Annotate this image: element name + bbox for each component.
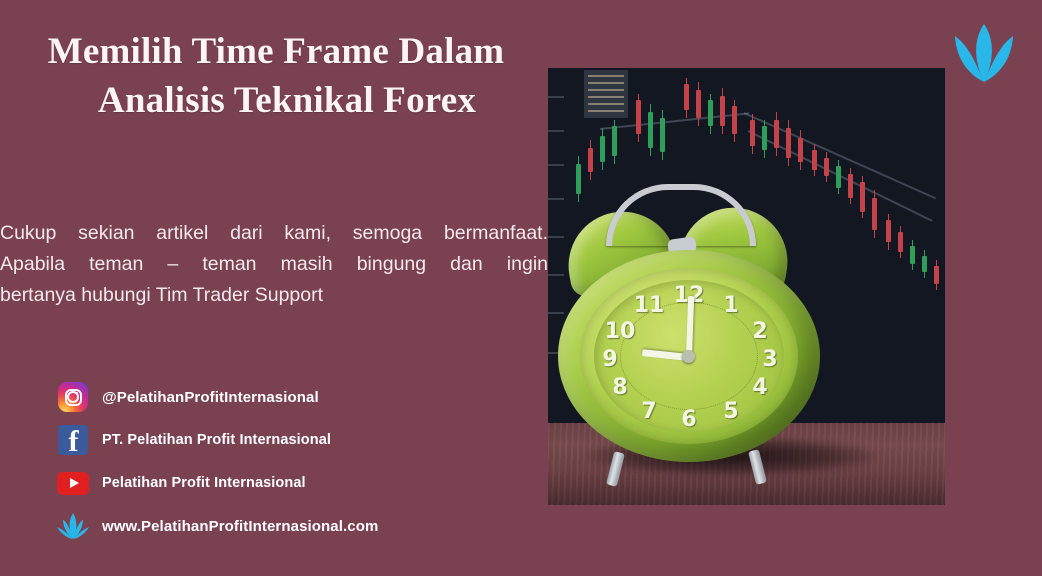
clock-numeral-7: 7 (641, 401, 656, 423)
lotus-icon-svg (56, 509, 90, 543)
chart-legend-box (584, 70, 628, 118)
clock-body: 12 1 2 3 4 5 6 7 8 9 10 11 (558, 250, 820, 462)
body-line-3: bertanya hubungi Tim Trader Support (0, 280, 548, 311)
social-contact-list: @PelatihanProfitInternasional f PT. Pela… (56, 376, 486, 548)
clock-numeral-4: 4 (752, 377, 767, 399)
green-alarm-clock: 12 1 2 3 4 5 6 7 8 9 10 11 (556, 176, 866, 466)
clock-numeral-2: 2 (752, 321, 767, 343)
clock-face: 12 1 2 3 4 5 6 7 8 9 10 11 (594, 280, 784, 432)
website-url-label: www.PelatihanProfitInternasional.com (102, 518, 378, 535)
clock-numeral-6: 6 (681, 409, 696, 431)
lotus-icon[interactable] (56, 509, 90, 543)
youtube-icon[interactable] (56, 466, 90, 500)
clock-numeral-1: 1 (723, 295, 738, 317)
page-title: Memilih Time Frame Dalam Analisis Teknik… (0, 28, 560, 126)
social-row-facebook[interactable]: f PT. Pelatihan Profit Internasional (56, 419, 486, 461)
lotus-logo-svg (944, 22, 1024, 84)
article-photo: 12 1 2 3 4 5 6 7 8 9 10 11 (548, 68, 945, 505)
clock-numeral-3: 3 (762, 349, 777, 371)
title-line-1: Memilih Time Frame Dalam (0, 28, 560, 77)
instagram-icon[interactable] (56, 380, 90, 414)
social-row-website[interactable]: www.PelatihanProfitInternasional.com (56, 505, 486, 547)
social-row-instagram[interactable]: @PelatihanProfitInternasional (56, 376, 486, 418)
clock-center-pin (682, 350, 695, 363)
clock-numeral-8: 8 (612, 377, 627, 399)
clock-numeral-11: 11 (634, 295, 665, 317)
facebook-page-label: PT. Pelatihan Profit Internasional (102, 432, 331, 448)
clock-rim: 12 1 2 3 4 5 6 7 8 9 10 11 (580, 268, 798, 444)
facebook-icon[interactable]: f (56, 423, 90, 457)
clock-numeral-10: 10 (605, 321, 636, 343)
body-paragraph: Cukup sekian artikel dari kami, semoga b… (0, 218, 548, 310)
social-row-youtube[interactable]: Pelatihan Profit Internasional (56, 462, 486, 504)
brand-lotus-logo (944, 22, 1024, 84)
clock-numeral-9: 9 (602, 349, 617, 371)
slide-canvas: Memilih Time Frame Dalam Analisis Teknik… (0, 0, 1042, 576)
instagram-handle-label: @PelatihanProfitInternasional (102, 389, 319, 406)
body-line-1: Cukup sekian artikel dari kami, semoga b… (0, 218, 548, 249)
clock-numeral-5: 5 (723, 401, 738, 423)
title-line-2: Analisis Teknikal Forex (14, 77, 560, 126)
clock-handle (606, 184, 756, 246)
body-line-2: Apabila teman – teman masih bingung dan … (0, 249, 548, 280)
youtube-channel-label: Pelatihan Profit Internasional (102, 475, 306, 491)
